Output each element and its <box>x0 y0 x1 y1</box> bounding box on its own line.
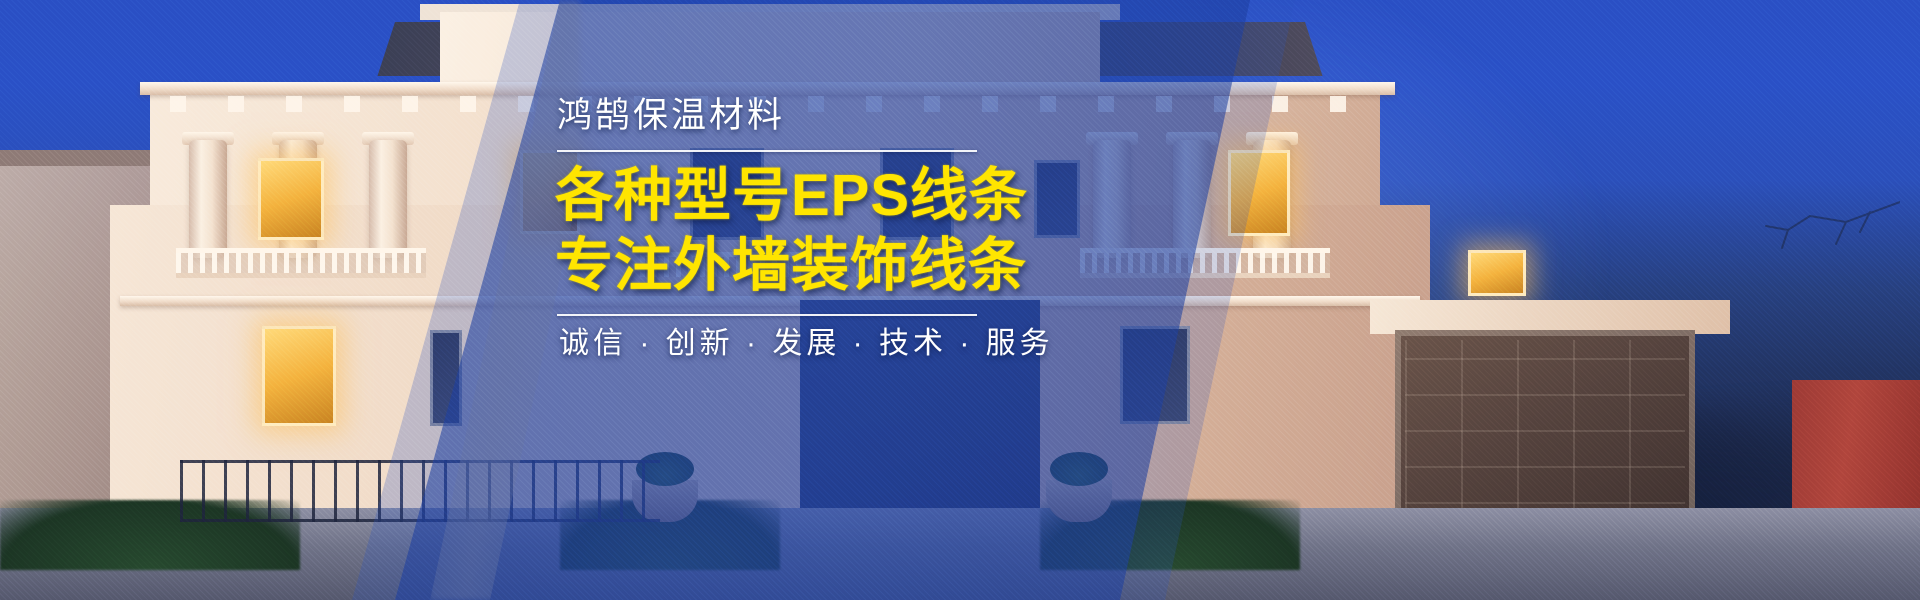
tagline: 诚信 · 创新 · 发展 · 技术 · 服务 <box>559 326 1075 362</box>
headline-line-1: 各种型号EPS线条 <box>555 162 1075 230</box>
divider-bottom <box>557 314 977 316</box>
divider-top <box>557 150 977 152</box>
column <box>1173 140 1211 258</box>
window-lit <box>1468 250 1526 296</box>
hero-banner: 鸿鹄保温材料 各种型号EPS线条 专注外墙装饰线条 诚信 · 创新 · 发展 ·… <box>0 0 1920 600</box>
column <box>189 140 227 258</box>
brand-name: 鸿鹄保温材料 <box>557 96 1075 136</box>
cornice-upper <box>140 82 1395 95</box>
roof-right <box>1075 22 1323 76</box>
window-dim <box>1120 326 1190 424</box>
column <box>369 140 407 258</box>
garage-header <box>1370 300 1730 334</box>
column <box>1093 140 1131 258</box>
window-lit <box>262 326 336 426</box>
window-dim <box>430 330 462 426</box>
balustrade <box>176 248 426 278</box>
window-lit <box>1228 150 1290 236</box>
left-structure-roof <box>0 150 170 166</box>
iron-fence <box>180 460 660 522</box>
balustrade <box>1080 248 1330 278</box>
banner-content: 鸿鹄保温材料 各种型号EPS线条 专注外墙装饰线条 诚信 · 创新 · 发展 ·… <box>555 96 1075 362</box>
headline-line-2: 专注外墙装饰线条 <box>555 232 1075 300</box>
window-lit <box>258 158 324 240</box>
